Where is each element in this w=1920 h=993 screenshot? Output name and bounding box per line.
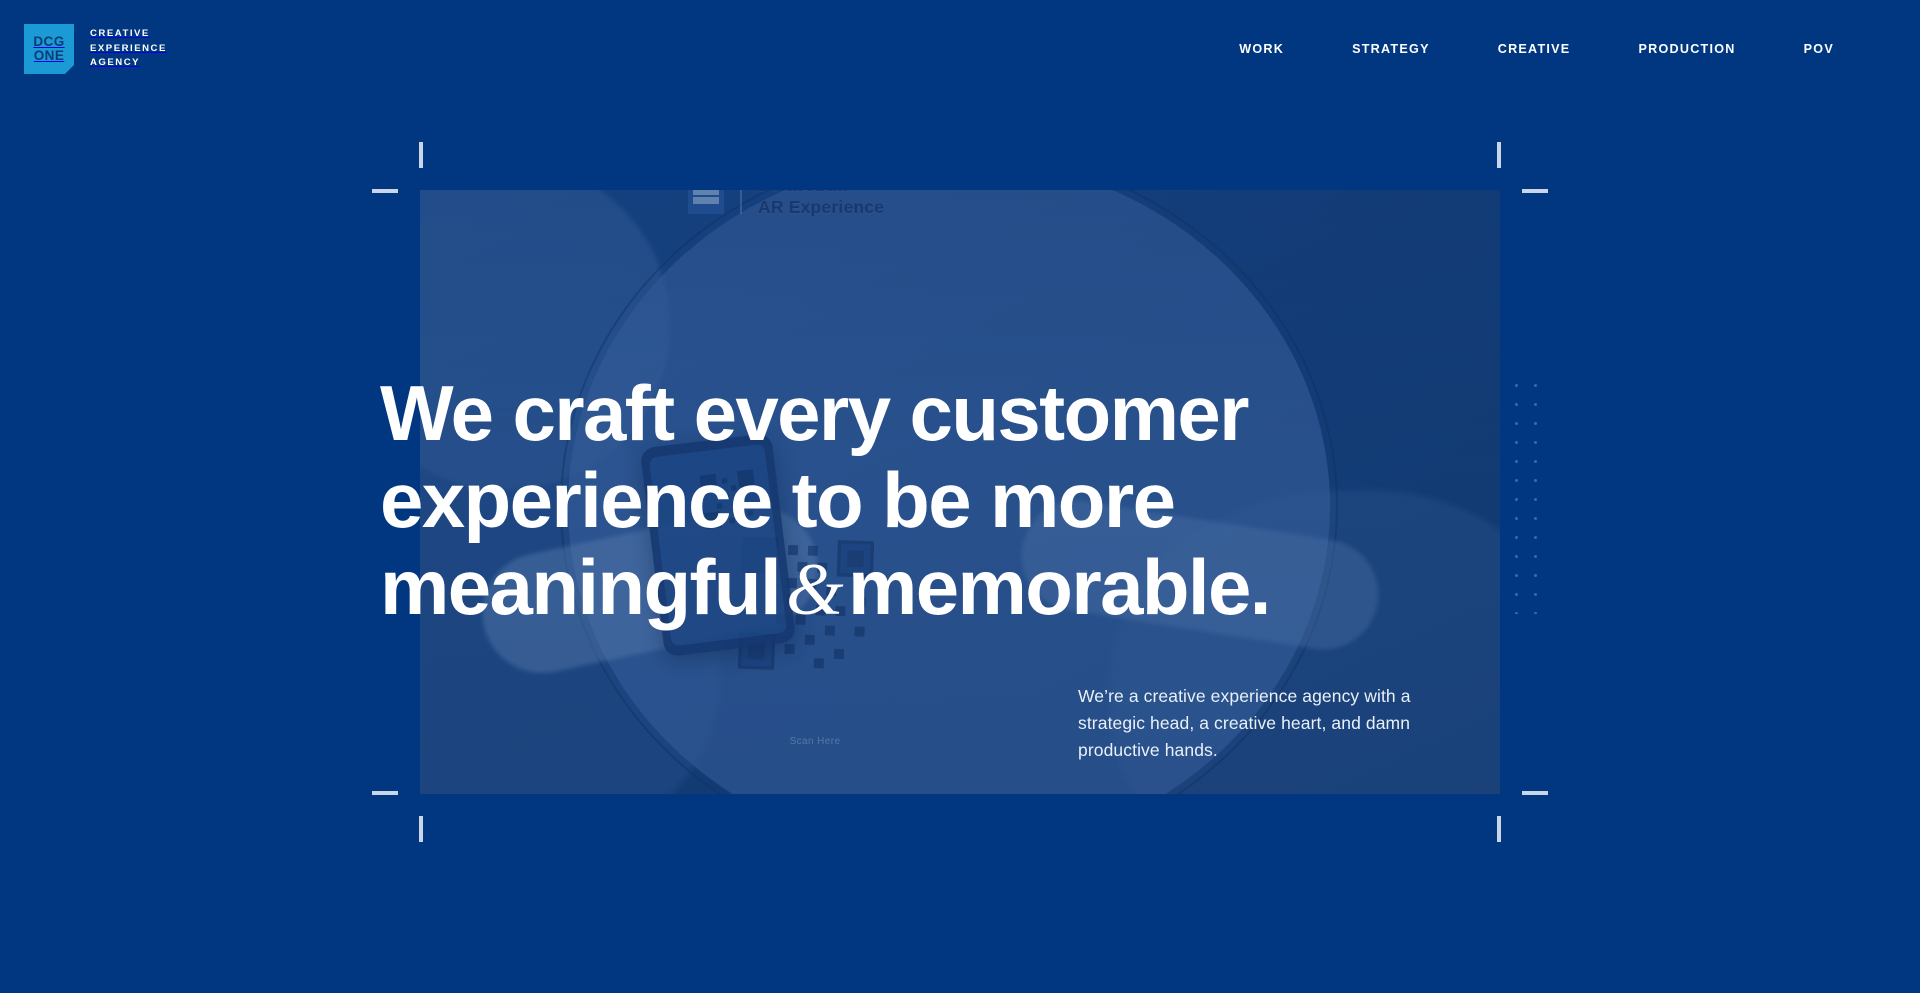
crop-mark-bottom-left-horizontal xyxy=(372,791,398,795)
page-title: We craft every customer experience to be… xyxy=(380,370,1440,631)
nav-item-creative[interactable]: CREATIVE xyxy=(1464,42,1605,56)
headline-line-2: experience to be more xyxy=(380,457,1440,544)
brand-logo-link[interactable]: DCG ONE CREATIVE EXPERIENCE AGENCY xyxy=(24,24,167,74)
hero-page: DCG ONE CREATIVE EXPERIENCE AGENCY WORK … xyxy=(0,0,1920,993)
headline-line-3-part-b: memorable. xyxy=(848,543,1270,631)
crop-mark-top-left-horizontal xyxy=(372,189,398,193)
headline-line-3: meaningful&memorable. xyxy=(380,544,1440,632)
hero-subcopy: We’re a creative experience agency with … xyxy=(1078,683,1438,764)
crop-mark-top-right-horizontal xyxy=(1522,189,1548,193)
brand-tagline-line-3: AGENCY xyxy=(90,56,167,71)
headline-line-3-part-a: meaningful xyxy=(380,543,780,631)
crop-mark-bottom-left-vertical xyxy=(419,816,423,842)
crop-mark-top-left-vertical xyxy=(419,142,423,168)
primary-navigation: WORK STRATEGY CREATIVE PRODUCTION POV xyxy=(1205,42,1868,56)
badge-line-2: ONE xyxy=(34,49,64,63)
nav-item-strategy[interactable]: STRATEGY xyxy=(1318,42,1464,56)
headline-line-1: We craft every customer xyxy=(380,370,1440,457)
ampersand-glyph: & xyxy=(780,549,848,631)
nav-item-pov[interactable]: POV xyxy=(1770,42,1868,56)
dot-grid-icon xyxy=(1505,374,1543,614)
brand-tagline-line-2: EXPERIENCE xyxy=(90,42,167,57)
crop-mark-bottom-right-vertical xyxy=(1497,816,1501,842)
dcg-one-badge-icon: DCG ONE xyxy=(24,24,74,74)
nav-item-production[interactable]: PRODUCTION xyxy=(1604,42,1769,56)
brand-tagline: CREATIVE EXPERIENCE AGENCY xyxy=(90,27,167,72)
badge-line-1: DCG xyxy=(33,35,64,49)
crop-mark-top-right-vertical xyxy=(1497,142,1501,168)
site-header: DCG ONE CREATIVE EXPERIENCE AGENCY WORK … xyxy=(0,0,1920,98)
crop-mark-bottom-right-horizontal xyxy=(1522,791,1548,795)
nav-item-work[interactable]: WORK xyxy=(1205,42,1318,56)
brand-tagline-line-1: CREATIVE xyxy=(90,27,167,42)
